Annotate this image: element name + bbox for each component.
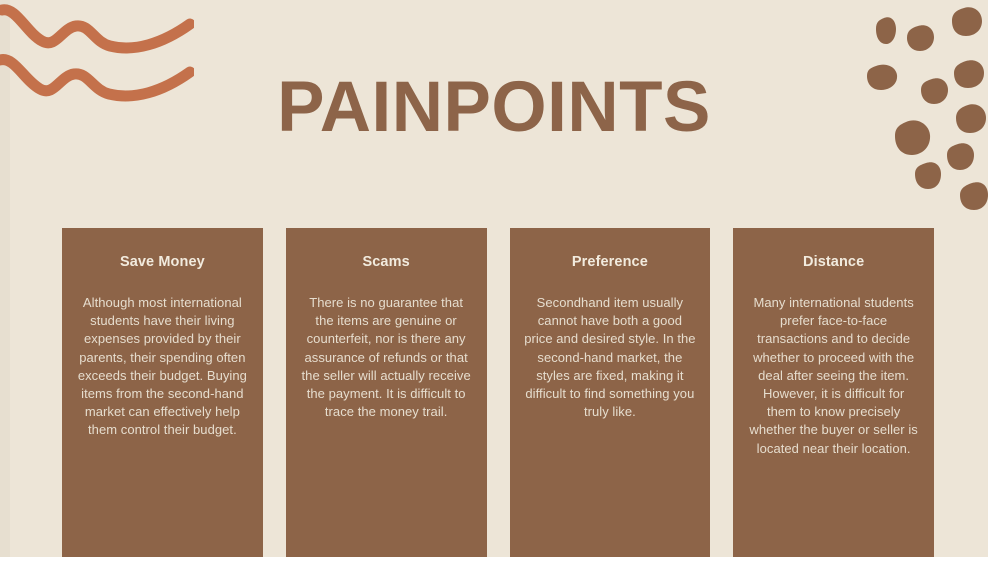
card-heading: Distance [803, 254, 864, 270]
card-heading: Save Money [120, 254, 205, 270]
card-body: There is no guarantee that the items are… [300, 294, 473, 421]
painpoint-cards-row: Save Money Although most international s… [62, 228, 934, 557]
slide-canvas: PAINPOINTS Save Money Although most inte… [0, 0, 988, 557]
painpoint-card-scams[interactable]: Scams There is no guarantee that the ite… [286, 228, 487, 557]
card-body: Although most international students hav… [76, 294, 249, 440]
painpoint-card-preference[interactable]: Preference Secondhand item usually canno… [510, 228, 711, 557]
card-heading: Preference [572, 254, 648, 270]
painpoint-card-distance[interactable]: Distance Many international students pre… [733, 228, 934, 557]
card-heading: Scams [362, 254, 409, 270]
page-title: PAINPOINTS [0, 72, 988, 143]
card-body: Secondhand item usually cannot have both… [524, 294, 697, 421]
painpoint-card-save-money[interactable]: Save Money Although most international s… [62, 228, 263, 557]
card-body: Many international students prefer face-… [747, 294, 920, 458]
